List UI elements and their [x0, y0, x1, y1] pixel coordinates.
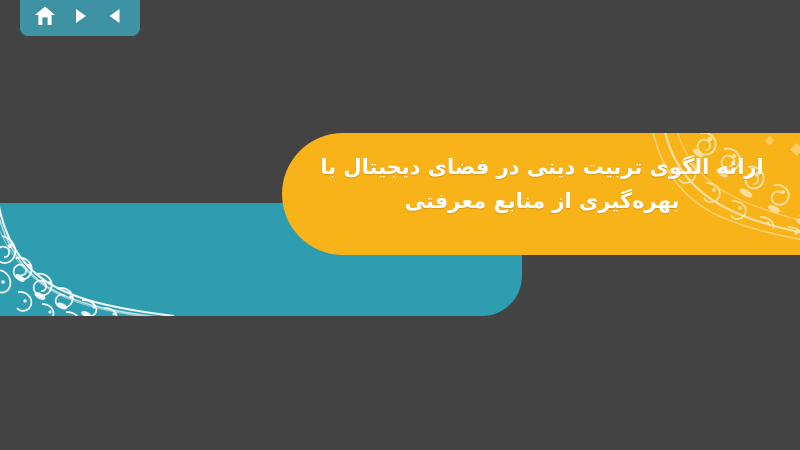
title-line-1: ارائه الگوی تربیت دینی در فضای دیجیتال ب… — [300, 150, 784, 184]
presentation-slide: ارائه الگوی تربیت دینی در فضای دیجیتال ب… — [0, 0, 800, 450]
teal-arabesque-ornament-icon — [0, 203, 176, 316]
forward-button[interactable] — [65, 2, 95, 30]
slide-title: ارائه الگوی تربیت دینی در فضای دیجیتال ب… — [300, 150, 784, 218]
slide-navigation-bar — [20, 0, 140, 36]
home-icon — [34, 5, 56, 27]
forward-icon — [70, 6, 90, 26]
title-line-2: بهره‌گیری از منابع معرفتی — [300, 184, 784, 218]
back-button[interactable] — [100, 2, 130, 30]
home-button[interactable] — [30, 2, 60, 30]
back-icon — [105, 6, 125, 26]
